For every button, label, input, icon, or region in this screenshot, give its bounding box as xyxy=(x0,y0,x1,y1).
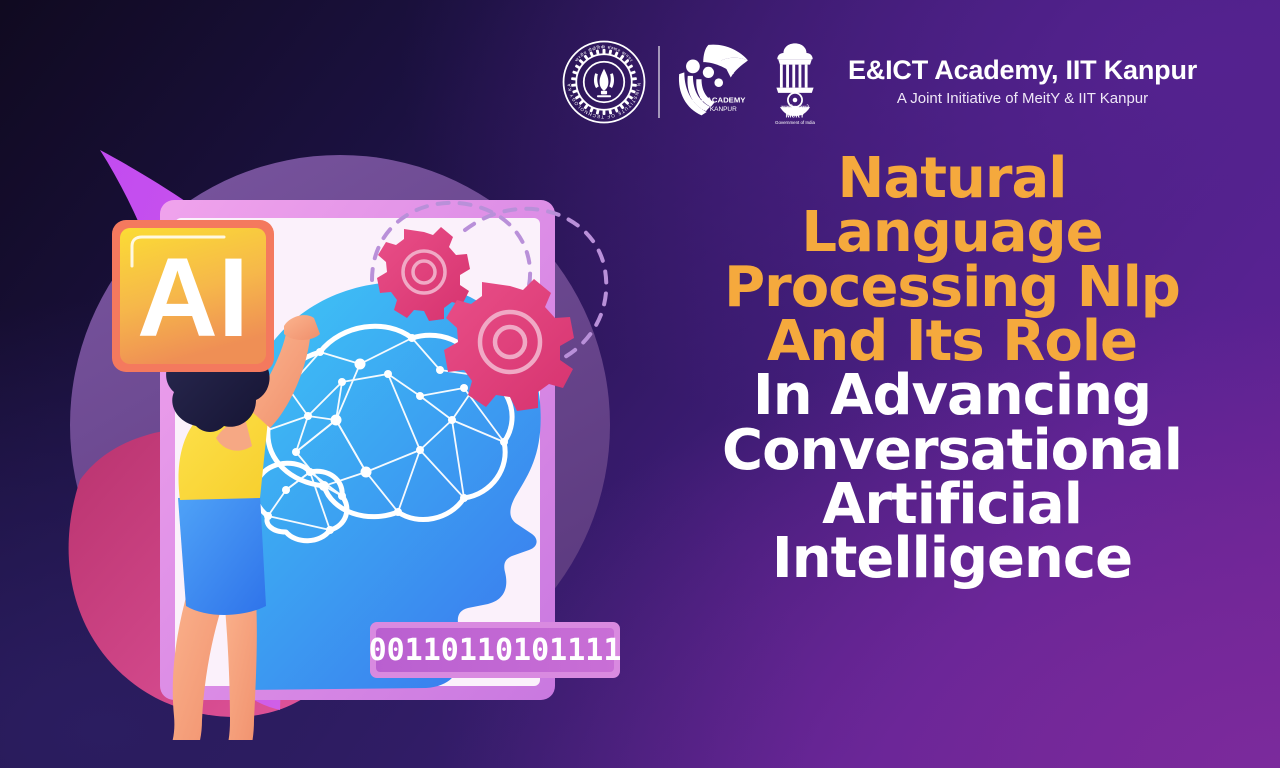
meity-emblem-icon: सत्यमेव जयते सत्यमेव जयते MeitY Governme… xyxy=(764,38,826,126)
title-line-2: Language xyxy=(692,206,1212,260)
academy-title: E&ICT Academy, IIT Kanpur xyxy=(848,56,1197,86)
meity-govt-text: Government of India xyxy=(775,120,815,125)
promo-banner: AI 00110110101111 xyxy=(0,0,1280,768)
title-line-1: Natural xyxy=(692,152,1212,206)
header-branding: INDIAN INSTITUTE OF TECHNOLOGY KANPUR भा… xyxy=(560,38,1197,126)
ai-sign: AI xyxy=(112,220,274,372)
meity-name-text: MeitY xyxy=(786,112,805,120)
academy-subtitle: A Joint Initiative of MeitY & IIT Kanpur xyxy=(848,90,1197,108)
title-line-6: Conversational xyxy=(692,424,1212,478)
logo-divider xyxy=(658,46,660,118)
title-line-4: And Its Role xyxy=(692,315,1212,369)
header-text-block: E&ICT Academy, IIT Kanpur A Joint Initia… xyxy=(848,56,1197,108)
meity-sanskrit-text: सत्यमेव जयते xyxy=(781,104,810,112)
title-line-8: Intelligence xyxy=(692,532,1212,586)
page-title: Natural Language Processing Nlp And Its … xyxy=(692,152,1212,587)
ai-illustration: AI 00110110101111 xyxy=(20,120,680,740)
title-line-5: In Advancing xyxy=(692,369,1212,423)
binary-label: 00110110101111 xyxy=(369,622,622,678)
title-line-3: Processing Nlp xyxy=(692,261,1212,315)
ict-academy-logo-icon: ICT ACADEMY IIT KANPUR xyxy=(674,38,760,126)
title-line-7: Artificial xyxy=(692,478,1212,532)
ict-logo-line2: IIT KANPUR xyxy=(701,106,737,113)
ai-sign-label: AI xyxy=(137,235,249,360)
ict-logo-line1: ICT ACADEMY xyxy=(692,96,746,105)
binary-label-text: 00110110101111 xyxy=(369,633,622,668)
iit-kanpur-seal-icon: INDIAN INSTITUTE OF TECHNOLOGY KANPUR भा… xyxy=(560,38,648,126)
